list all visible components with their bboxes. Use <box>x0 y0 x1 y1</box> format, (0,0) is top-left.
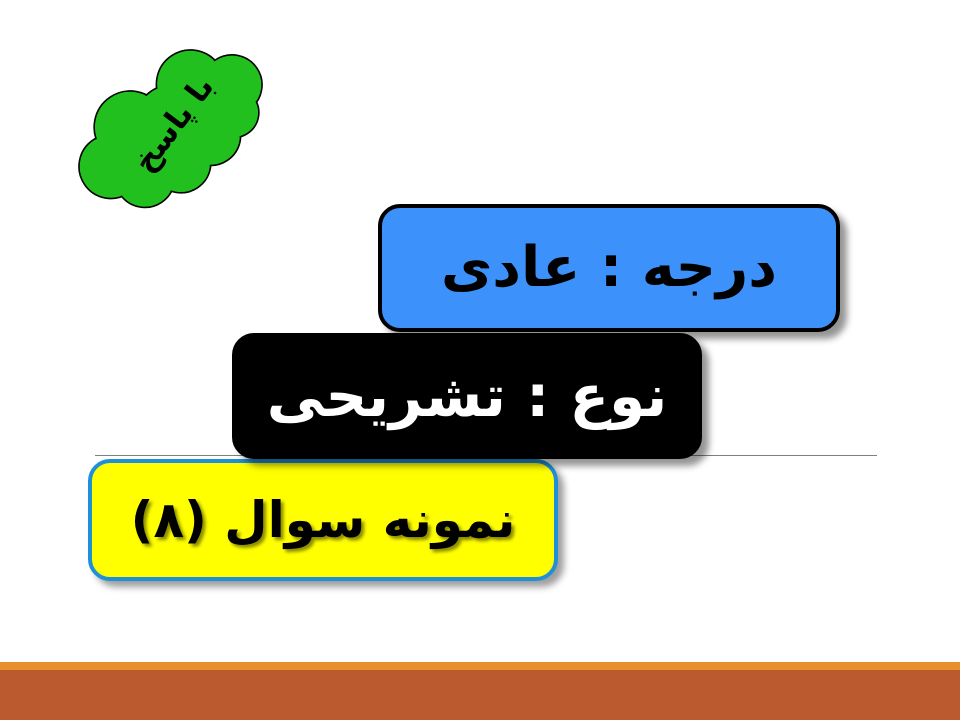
slide-canvas: با پاسخ درجه : عادی نوع : تشریحی نمونه س… <box>0 0 960 720</box>
cloud-shape-icon <box>58 26 290 222</box>
type-callout-box[interactable]: نوع : تشریحی <box>232 333 702 459</box>
degree-callout-label: درجه : عادی <box>441 239 777 298</box>
footer-band <box>0 670 960 720</box>
degree-callout-box[interactable]: درجه : عادی <box>378 204 840 332</box>
cloud-callout[interactable]: با پاسخ <box>58 26 290 222</box>
sample-question-callout-box[interactable]: نمونه سوال (۸) <box>88 459 558 581</box>
sample-question-label: نمونه سوال (۸) <box>131 494 516 547</box>
footer-accent-stripe <box>0 662 960 670</box>
type-callout-label: نوع : تشریحی <box>267 366 667 427</box>
